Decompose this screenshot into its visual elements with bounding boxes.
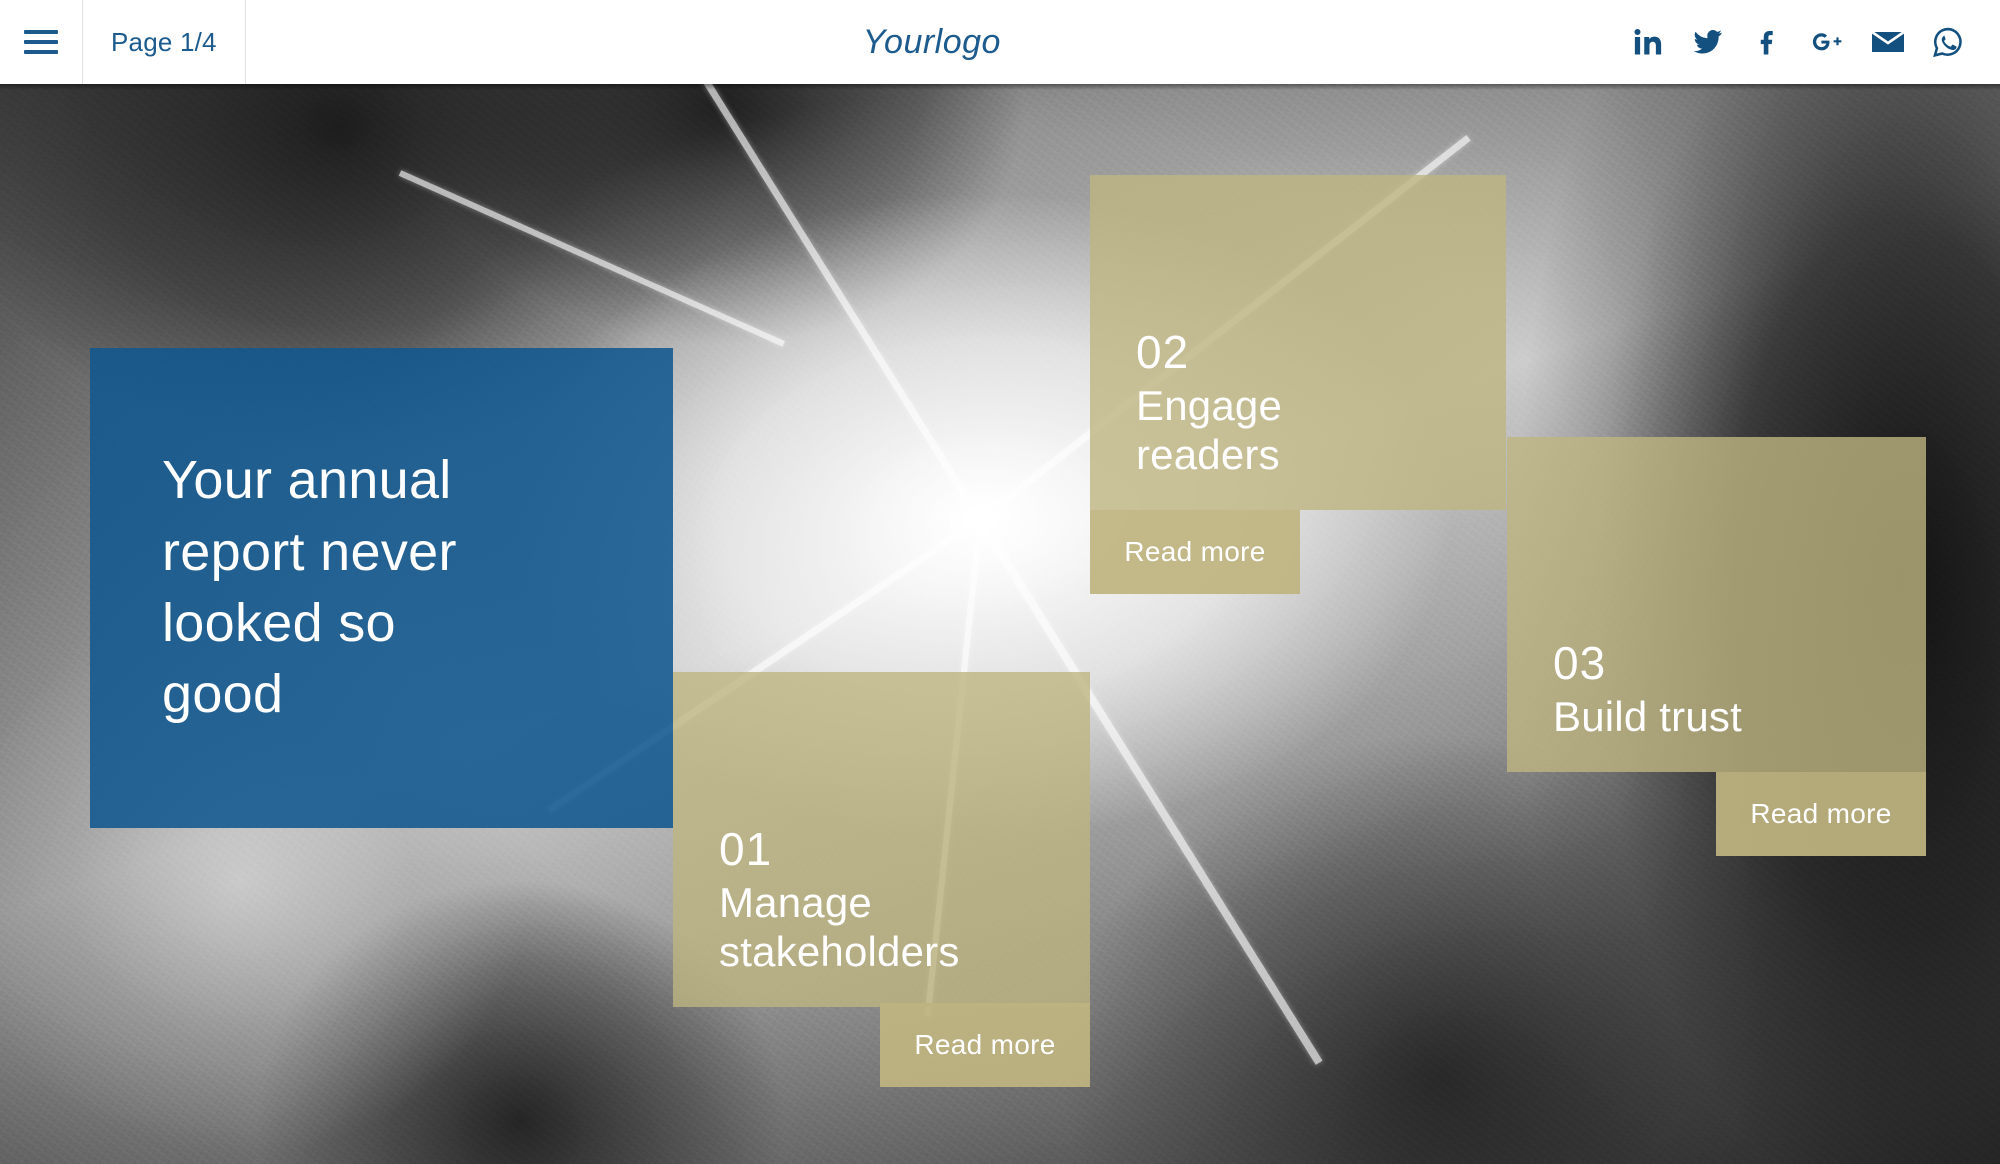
card-build-trust[interactable]: 03 Build trust: [1507, 437, 1926, 772]
card-number: 01: [719, 826, 1044, 872]
card-number: 03: [1553, 640, 1880, 686]
whatsapp-icon[interactable]: [1918, 0, 1978, 84]
twitter-icon[interactable]: [1678, 0, 1738, 84]
facebook-icon[interactable]: [1738, 0, 1798, 84]
card-engage-readers[interactable]: 02 Engage readers: [1090, 175, 1506, 510]
page-title: Your annual report never looked so good: [90, 445, 509, 730]
brand-logo[interactable]: Yourlogo: [863, 23, 1001, 62]
card-title: Build trust: [1553, 692, 1880, 742]
card-manage-stakeholders[interactable]: 01 Manage stakeholders: [673, 672, 1090, 1007]
read-more-button-01[interactable]: Read more: [880, 1003, 1090, 1087]
page-indicator[interactable]: Page 1/4: [82, 0, 246, 84]
hamburger-menu-button[interactable]: [0, 0, 82, 84]
linkedin-icon[interactable]: [1618, 0, 1678, 84]
google-plus-icon[interactable]: [1798, 0, 1858, 84]
read-more-button-03[interactable]: Read more: [1716, 772, 1926, 856]
email-icon[interactable]: [1858, 0, 1918, 84]
card-number: 02: [1136, 329, 1460, 375]
read-more-button-02[interactable]: Read more: [1090, 510, 1300, 594]
brand-area: Yourlogo: [246, 0, 1618, 84]
hamburger-icon: [24, 30, 58, 54]
top-header-bar: Page 1/4 Yourlogo: [0, 0, 2000, 84]
card-title: Manage stakeholders: [719, 878, 1044, 977]
hero-headline-panel: Your annual report never looked so good: [90, 348, 673, 828]
social-links: [1618, 0, 2000, 84]
card-title: Engage readers: [1136, 381, 1460, 480]
